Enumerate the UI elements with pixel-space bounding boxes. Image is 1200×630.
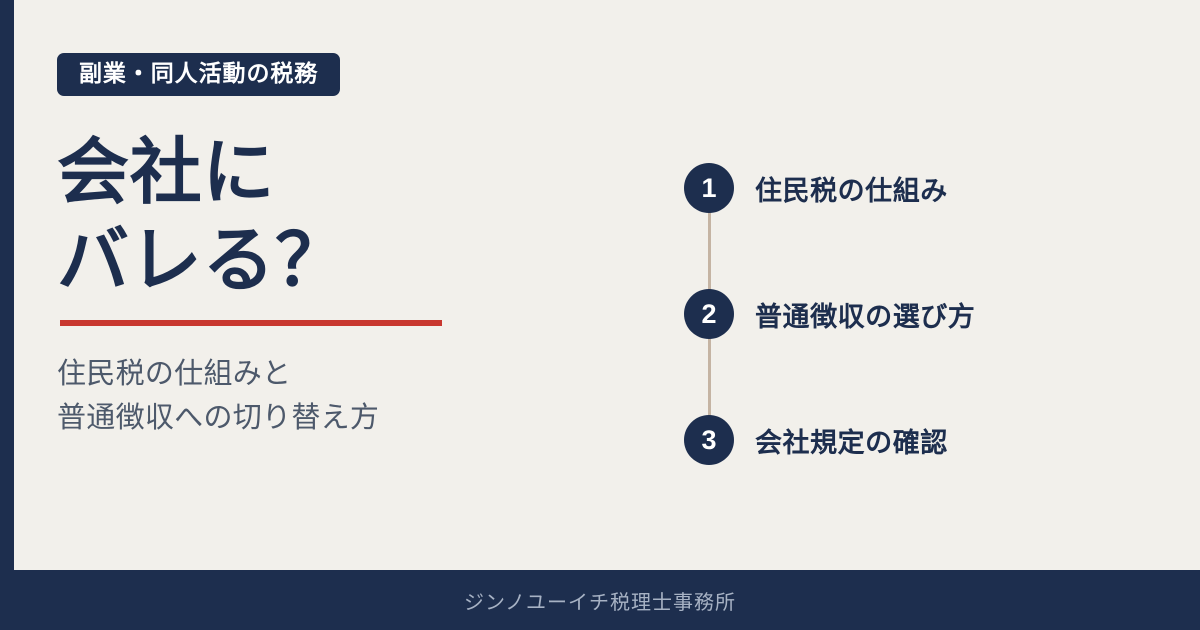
- subtitle-text: 住民税の仕組みと 普通徴収への切り替え方: [57, 352, 617, 440]
- step-label: 普通徴収の選び方: [755, 295, 975, 334]
- list-item: 1 住民税の仕組み: [684, 163, 1114, 213]
- left-content-column: 副業・同人活動の税務 会社に バレる？ 住民税の仕組みと 普通徴収への切り替え方: [57, 53, 617, 440]
- step-number-badge: 1: [684, 163, 734, 213]
- list-item: 2 普通徴収の選び方: [684, 289, 1114, 339]
- footer-office-name: ジンノユーイチ税理士事務所: [464, 586, 736, 615]
- steps-list: 1 住民税の仕組み 2 普通徴収の選び方 3 会社規定の確認: [684, 163, 1114, 465]
- headline-group: 会社に バレる？: [57, 130, 617, 306]
- page-title: 会社に バレる？: [57, 130, 617, 306]
- step-label: 会社規定の確認: [755, 421, 948, 460]
- step-label: 住民税の仕組み: [755, 169, 948, 208]
- red-underline-accent: [60, 320, 442, 326]
- step-number-badge: 2: [684, 289, 734, 339]
- footer-bar: ジンノユーイチ税理士事務所: [0, 570, 1200, 630]
- left-accent-bar: [0, 0, 14, 570]
- slide-canvas: 副業・同人活動の税務 会社に バレる？ 住民税の仕組みと 普通徴収への切り替え方…: [0, 0, 1200, 630]
- list-item: 3 会社規定の確認: [684, 415, 1114, 465]
- category-badge: 副業・同人活動の税務: [57, 53, 340, 96]
- step-number-badge: 3: [684, 415, 734, 465]
